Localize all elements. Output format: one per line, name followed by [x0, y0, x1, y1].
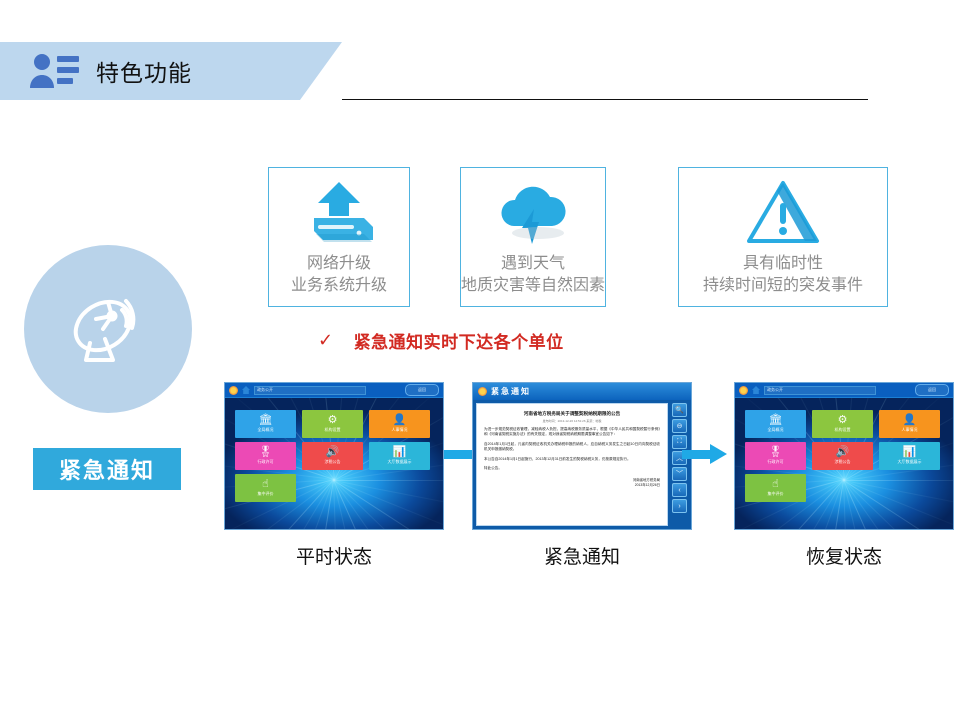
kiosk-home-body-2: 🏛全局概况⚙机构设置👤人事情况🎖行政许可🔊涉税公告📊大厅数据展示☝集中评价 [735, 398, 953, 530]
server-upload-icon [302, 174, 376, 252]
feature-box-weather[interactable]: 遇到天气 地质灾害等自然因素 [460, 167, 606, 307]
notice-rail-button[interactable]: 🔍 [672, 403, 687, 417]
kiosk-tile[interactable]: 👤人事情况 [369, 410, 430, 438]
kiosk-tile[interactable]: ☝集中评价 [235, 474, 296, 502]
screenshot-emergency-notice[interactable]: 紧急通知 河南省地方税务局关于调整契税纳税期限的公告 发布时间：2013-12-… [472, 382, 692, 530]
kiosk-tile[interactable]: ⚙机构设置 [302, 410, 363, 438]
notice-rail-button[interactable]: ﹀ [672, 467, 687, 481]
contact-icon: 👤 [903, 415, 917, 426]
contact-icon: 👤 [393, 415, 407, 426]
notice-doc-meta: 发布时间：2013-12-26 14:51:26 来源：地税 [484, 419, 660, 423]
feature-box-network-upgrade[interactable]: 网络升级 业务系统升级 [268, 167, 410, 307]
award-icon: 🎖 [259, 447, 273, 458]
hand-tap-icon: ☝ [772, 479, 779, 490]
back-button-2[interactable]: 返回 [915, 384, 949, 396]
bar-chart-icon: 📊 [903, 447, 917, 458]
notice-doc-title: 河南省地方税务局关于调整契税纳税期限的公告 [484, 410, 660, 417]
screenshot-normal-state[interactable]: 政务公开 返回 🏛全局概况⚙机构设置👤人事情况🎖行政许可🔊涉税公告📊大厅数据展示… [224, 382, 444, 530]
arrow-shaft-2 [682, 450, 712, 459]
home-icon[interactable] [752, 386, 760, 394]
kiosk-topbar-1: 政务公开 返回 [225, 383, 443, 398]
feature-box-emergency-event[interactable]: 具有临时性 持续时间短的突发事件 [678, 167, 888, 307]
screenshot-restored-state[interactable]: 政务公开 返回 🏛全局概况⚙机构设置👤人事情况🎖行政许可🔊涉税公告📊大厅数据展示… [734, 382, 954, 530]
breadcrumb-1: 政务公开 [254, 386, 366, 395]
warning-triangle-icon [743, 174, 823, 252]
award-icon: 🎖 [769, 447, 783, 458]
speaker-icon: 🔊 [326, 447, 340, 458]
feature-label-3: 具有临时性 持续时间短的突发事件 [703, 252, 863, 296]
kiosk-tile-label: 涉税公告 [835, 459, 851, 465]
feature-label-1: 网络升级 业务系统升级 [291, 252, 387, 296]
kiosk-topbar-2: 政务公开 返回 [735, 383, 953, 398]
bank-icon: 🏛 [259, 415, 273, 426]
agency-emblem-icon [229, 386, 238, 395]
feature-label-2-line1: 遇到天气 [461, 252, 605, 274]
notice-document: 河南省地方税务局关于调整契税纳税期限的公告 发布时间：2013-12-26 14… [476, 403, 668, 526]
speaker-icon: 🔊 [836, 447, 850, 458]
arrow-head-2 [710, 444, 727, 464]
notice-paragraph: 特此公告。 [484, 466, 660, 471]
header-divider [342, 99, 868, 100]
feature-label-2-line2: 地质灾害等自然因素 [461, 274, 605, 296]
feature-label-1-line1: 网络升级 [291, 252, 387, 274]
bar-chart-icon: 📊 [393, 447, 407, 458]
kiosk-tile[interactable]: 🔊涉税公告 [302, 442, 363, 470]
caption-emergency-notice: 紧急通知 [472, 542, 692, 569]
feature-label-3-line1: 具有临时性 [703, 252, 863, 274]
bank-icon: 🏛 [769, 415, 783, 426]
kiosk-tile-grid-1: 🏛全局概况⚙机构设置👤人事情况🎖行政许可🔊涉税公告📊大厅数据展示☝集中评价 [235, 410, 431, 502]
notice-titlebar: 紧急通知 [473, 383, 691, 400]
kiosk-tile-label: 大厅数据展示 [388, 459, 412, 465]
feature-label-2: 遇到天气 地质灾害等自然因素 [461, 252, 605, 296]
kiosk-tile[interactable]: 📊大厅数据展示 [879, 442, 940, 470]
kiosk-tile[interactable]: 🔊涉税公告 [812, 442, 873, 470]
screenshot-strip: 政务公开 返回 🏛全局概况⚙机构设置👤人事情况🎖行政许可🔊涉税公告📊大厅数据展示… [0, 382, 960, 572]
gear-icon: ⚙ [838, 415, 848, 426]
notice-paragraph: 为进一步规范契税征收管理，减轻纳税人负担，提高纳税服务质量水平，根据《中华人民共… [484, 427, 660, 438]
arrow-shaft-1 [444, 450, 474, 459]
kiosk-tile-label: 大厅数据展示 [898, 459, 922, 465]
caption-normal-state: 平时状态 [224, 542, 444, 569]
agency-emblem-icon [478, 387, 487, 396]
kiosk-tile-label: 机构设置 [325, 427, 341, 433]
kiosk-tile[interactable]: 🎖行政许可 [235, 442, 296, 470]
kiosk-tile[interactable]: 🏛全局概况 [745, 410, 806, 438]
kiosk-tile[interactable]: ☝集中评价 [745, 474, 806, 502]
callout-text: 紧急通知实时下达各个单位 [354, 328, 564, 353]
gear-icon: ⚙ [328, 415, 338, 426]
flow-arrow-2 [682, 444, 728, 464]
notice-paragraph: 自2014年1月1日起，凡省内契税征收机关办理纳税申报的纳税人，应自纳税义务发生… [484, 442, 660, 453]
feature-label-3-line2: 持续时间短的突发事件 [703, 274, 863, 296]
header-banner: 特色功能 [0, 42, 342, 100]
kiosk-tile[interactable]: 🏛全局概况 [235, 410, 296, 438]
kiosk-tile-label: 行政许可 [768, 459, 784, 465]
kiosk-tile[interactable]: 👤人事情况 [879, 410, 940, 438]
caption-restored-state: 恢复状态 [734, 542, 954, 569]
breadcrumb-2: 政务公开 [764, 386, 876, 395]
kiosk-tile[interactable]: 📊大厅数据展示 [369, 442, 430, 470]
notice-toolbar-rail: 🔍⊖⛶︿﹀‹› [671, 403, 688, 526]
kiosk-tile-label: 全局概况 [768, 427, 784, 433]
home-icon[interactable] [242, 386, 250, 394]
notice-rail-button[interactable]: ⊖ [672, 419, 687, 433]
notice-paragraph: 本公告自2014年1月1日起施行，2013年12月31日前发生的契税纳税义务，仍… [484, 457, 660, 462]
notice-body: 河南省地方税务局关于调整契税纳税期限的公告 发布时间：2013-12-26 14… [473, 400, 691, 529]
page-title: 特色功能 [96, 54, 192, 88]
feature-label-1-line2: 业务系统升级 [291, 274, 387, 296]
kiosk-tile-grid-2: 🏛全局概况⚙机构设置👤人事情况🎖行政许可🔊涉税公告📊大厅数据展示☝集中评价 [745, 410, 941, 502]
thunderstorm-cloud-icon [492, 174, 574, 252]
kiosk-tile-label: 全局概况 [258, 427, 274, 433]
agency-emblem-icon [739, 386, 748, 395]
notice-signature-date: 2013年12月26日 [484, 483, 660, 488]
kiosk-tile[interactable]: 🎖行政许可 [745, 442, 806, 470]
notice-rail-button[interactable]: ‹ [672, 483, 687, 497]
check-icon: ✓ [318, 330, 334, 351]
kiosk-tile-label: 行政许可 [258, 459, 274, 465]
kiosk-tile-label: 涉税公告 [325, 459, 341, 465]
kiosk-tile-label: 机构设置 [835, 427, 851, 433]
back-button-1[interactable]: 返回 [405, 384, 439, 396]
hand-tap-icon: ☝ [262, 479, 269, 490]
user-list-icon [28, 51, 80, 91]
notice-rail-button[interactable]: › [672, 499, 687, 513]
kiosk-tile-label: 集中评价 [768, 491, 784, 497]
kiosk-tile-label: 人事情况 [902, 427, 918, 433]
kiosk-tile[interactable]: ⚙机构设置 [812, 410, 873, 438]
feature-box-row: 网络升级 业务系统升级 遇到天气 地质灾害等自然因素 [268, 167, 888, 307]
callout-row: ✓ 紧急通知实时下达各个单位 [318, 327, 564, 353]
kiosk-tile-label: 集中评价 [258, 491, 274, 497]
kiosk-home-body-1: 🏛全局概况⚙机构设置👤人事情况🎖行政许可🔊涉税公告📊大厅数据展示☝集中评价 [225, 398, 443, 530]
kiosk-tile-label: 人事情况 [392, 427, 408, 433]
notice-window-title: 紧急通知 [491, 386, 531, 397]
